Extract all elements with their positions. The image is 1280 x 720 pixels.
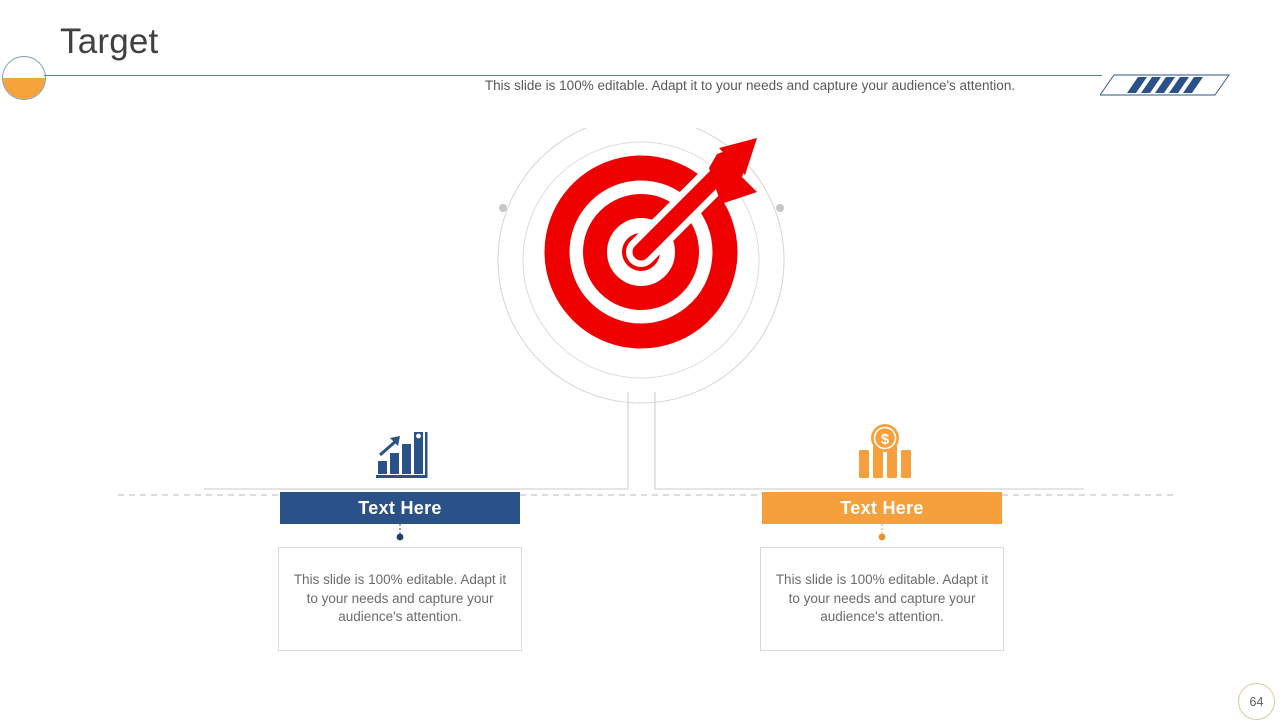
header-subtitle: This slide is 100% editable. Adapt it to… xyxy=(300,78,1200,93)
header-divider xyxy=(44,75,1102,76)
bar-chart-growth-icon xyxy=(360,422,440,482)
title-badge-fill xyxy=(3,78,45,99)
label-bar-left[interactable]: Text Here xyxy=(280,492,520,524)
description-box-right: This slide is 100% editable. Adapt it to… xyxy=(760,547,1004,651)
description-text-right: This slide is 100% editable. Adapt it to… xyxy=(773,571,991,627)
target-with-arrow-icon xyxy=(495,128,787,408)
description-text-left: This slide is 100% editable. Adapt it to… xyxy=(291,571,509,627)
svg-text:$: $ xyxy=(881,431,890,448)
slide-canvas: Target This slide is 100% editable. Adap… xyxy=(0,0,1280,720)
striped-parallelogram-icon xyxy=(1100,74,1230,96)
page-title: Target xyxy=(60,22,158,62)
title-badge-icon xyxy=(2,56,46,100)
pin-connector-left xyxy=(393,524,407,542)
dollar-coin-bars-icon: $ xyxy=(842,422,922,482)
page-number-badge: 64 xyxy=(1238,683,1275,720)
label-bar-right[interactable]: Text Here xyxy=(762,492,1002,524)
description-box-left: This slide is 100% editable. Adapt it to… xyxy=(278,547,522,651)
pin-connector-right xyxy=(875,524,889,542)
